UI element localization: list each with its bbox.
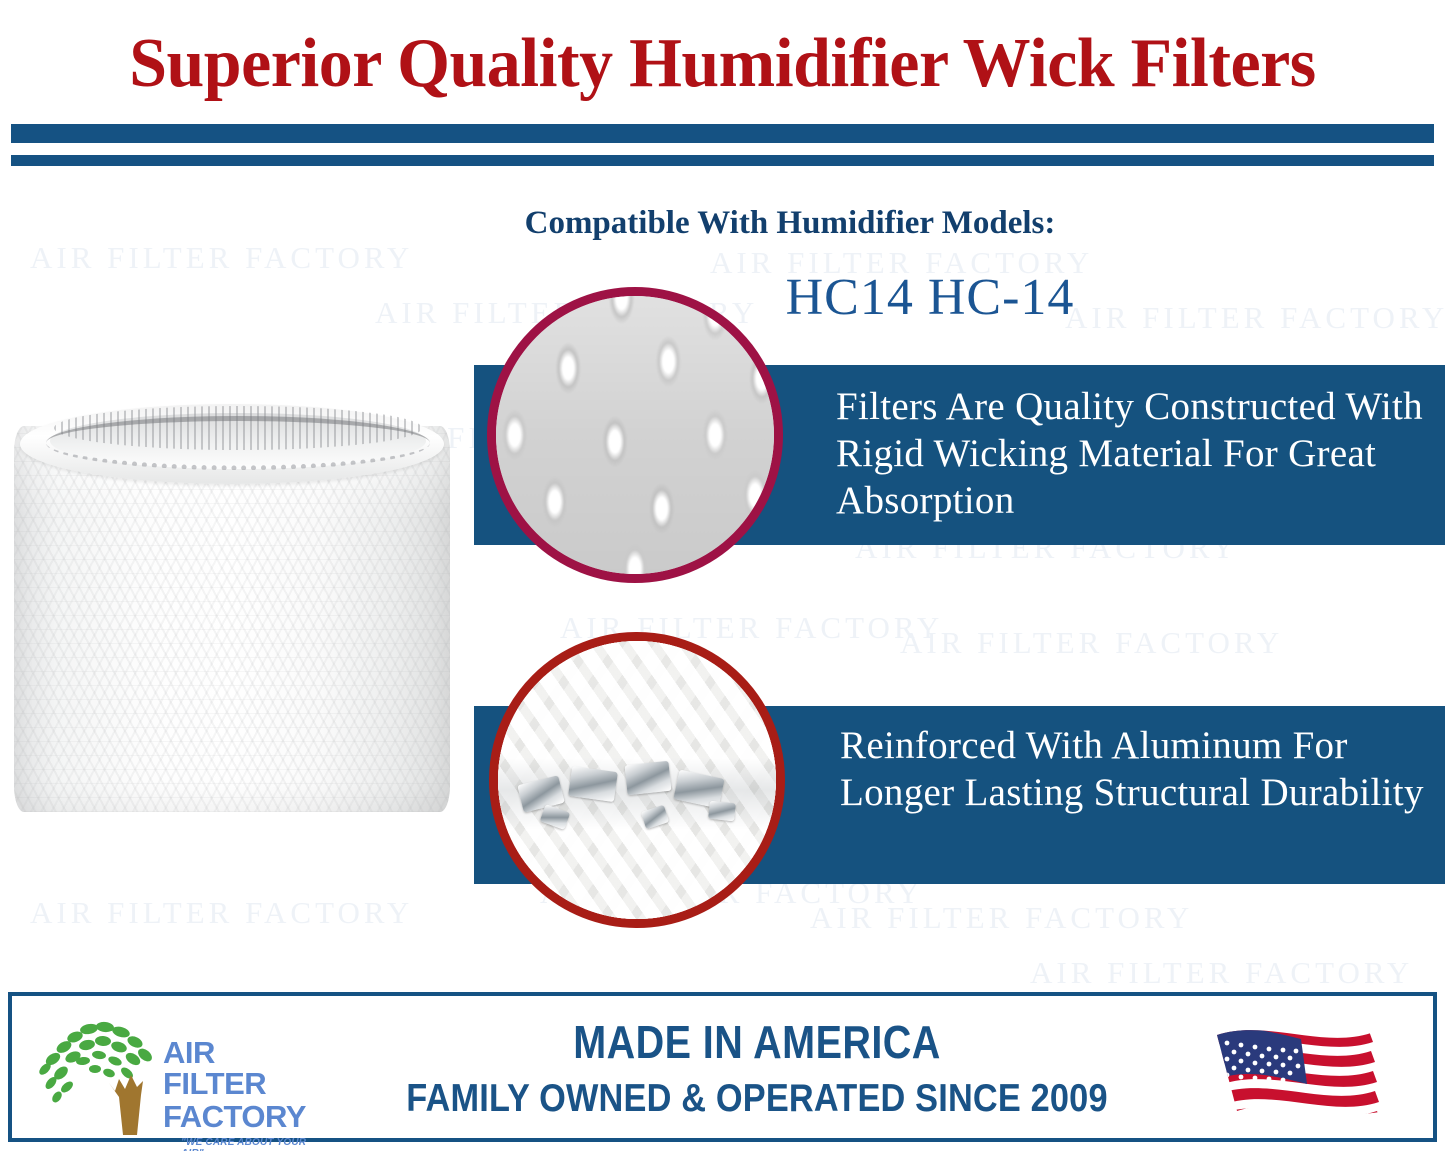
feature-text-1: Filters Are Quality Constructed With Rig… (836, 383, 1445, 524)
aluminum-mesh-closeup (489, 632, 785, 928)
watermark-text: AIR FILTER FACTORY (1030, 955, 1413, 991)
air-filter-factory-logo: AIR FILTER FACTORY "WE CARE ABOUT YOUR A… (35, 1017, 315, 1135)
logo-line-2: FACTORY (163, 1101, 323, 1132)
logo-line-1: AIR FILTER (163, 1037, 323, 1099)
aluminum-texture (498, 641, 776, 919)
divider-rule-thin (11, 155, 1434, 166)
watermark-text: AIR FILTER FACTORY (810, 900, 1193, 936)
footer-center-text: MADE IN AMERICA FAMILY OWNED & OPERATED … (317, 1015, 1197, 1121)
footer-inner: AIR FILTER FACTORY "WE CARE ABOUT YOUR A… (16, 1000, 1429, 1134)
family-owned-text: FAMILY OWNED & OPERATED SINCE 2009 (370, 1077, 1144, 1121)
divider-rule-thick (11, 124, 1434, 143)
footer-bar: AIR FILTER FACTORY "WE CARE ABOUT YOUR A… (8, 992, 1437, 1142)
filter-top-rim (20, 404, 444, 484)
usa-flag-icon (1195, 1021, 1410, 1131)
watermark-text: AIR FILTER FACTORY (30, 895, 413, 931)
product-photo-wick-filter (14, 404, 450, 816)
wicking-material-closeup (487, 287, 783, 583)
compatible-models-heading: Compatible With Humidifier Models: (370, 205, 1210, 242)
page-title: Superior Quality Humidifier Wick Filters (22, 24, 1424, 104)
watermark-text: AIR FILTER FACTORY (900, 625, 1283, 661)
feature-text-2: Reinforced With Aluminum For Longer Last… (840, 722, 1445, 816)
wicking-texture (496, 296, 774, 574)
product-infographic: AIR FILTER FACTORYAIR FILTER FACTORYAIR … (0, 0, 1445, 1151)
tree-trunk-icon (101, 1073, 165, 1135)
watermark-text: AIR FILTER FACTORY (30, 240, 413, 276)
made-in-america-text: MADE IN AMERICA (379, 1015, 1136, 1069)
filter-stitching (46, 416, 430, 470)
logo-tagline: "WE CARE ABOUT YOUR AIR" (181, 1137, 323, 1151)
